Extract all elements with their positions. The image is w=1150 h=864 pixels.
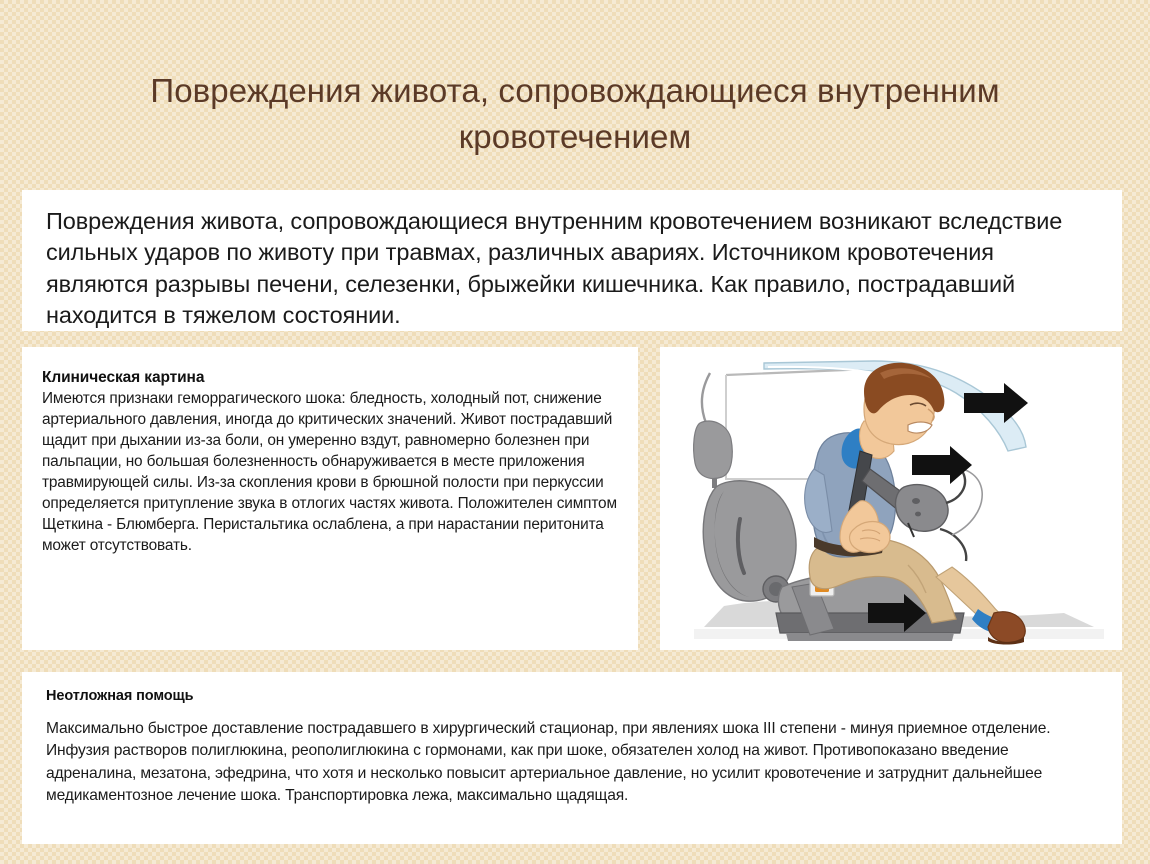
headrest-post: [702, 373, 710, 423]
intro-text-panel: Повреждения живота, сопровождающиеся вну…: [22, 190, 1122, 331]
intro-paragraph: Повреждения живота, сопровождающиеся вну…: [46, 206, 1098, 331]
steering-wheel-hub-detail-2: [915, 512, 921, 517]
page-title: Повреждения живота, сопровождающиеся вну…: [90, 68, 1060, 159]
steering-wheel-hub-detail: [912, 498, 920, 504]
car-crash-illustration: [664, 351, 1118, 646]
emergency-aid-heading: Неотложная помощь: [46, 688, 1102, 704]
force-arrow-middle: [912, 446, 972, 484]
clinical-picture-text: Имеются признаки геморрагического шока: …: [42, 388, 620, 556]
headrest: [694, 421, 733, 478]
emergency-aid-text: Максимально быстрое доставление пострада…: [46, 718, 1102, 807]
steering-wheel-hub: [895, 485, 948, 532]
emergency-aid-panel: Неотложная помощь Максимально быстрое до…: [22, 672, 1122, 844]
clinical-picture-panel: Клиническая картина Имеются признаки гем…: [22, 347, 638, 650]
car-crash-illustration-svg: [664, 351, 1118, 646]
clinical-picture-heading: Клиническая картина: [42, 369, 620, 387]
illustration-panel: [660, 347, 1122, 650]
driver-open-mouth: [908, 422, 932, 433]
